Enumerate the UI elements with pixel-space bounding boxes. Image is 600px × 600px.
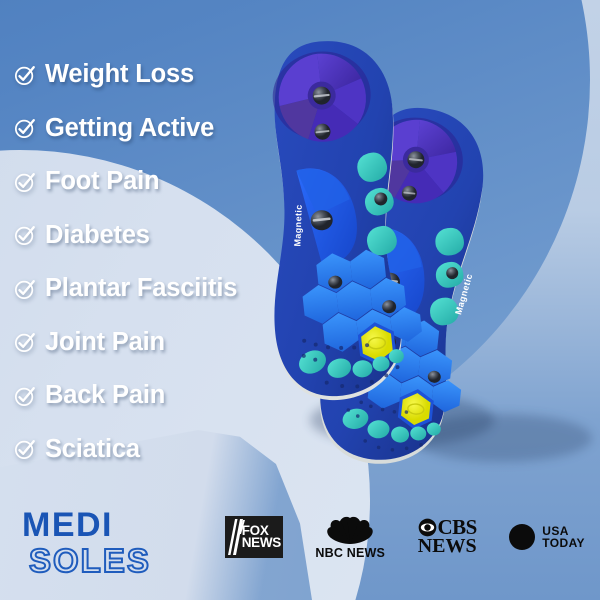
check-circle-icon [14, 385, 36, 407]
benefit-label: Diabetes [45, 221, 150, 250]
product-image: Magnetic [252, 40, 600, 460]
press-logo-nbc-news: NBC NEWS [315, 515, 385, 560]
check-circle-icon [14, 117, 36, 139]
benefit-item-joint-pain: Joint Pain [14, 316, 304, 370]
usa-today-word-2: TODAY [542, 537, 585, 549]
benefit-label: Foot Pain [45, 167, 159, 196]
usa-today-dot-icon [509, 524, 535, 550]
nbc-peacock-icon [324, 515, 376, 545]
fox-word-2: NEWS [242, 537, 281, 549]
benefit-item-diabetes: Diabetes [14, 209, 304, 263]
benefit-label: Joint Pain [45, 328, 165, 357]
benefits-list: Weight Loss Getting Active Foot Pain Dia… [14, 48, 304, 476]
brand-logo: MEDI SOLES [22, 508, 182, 577]
benefit-label: Sciatica [45, 435, 140, 464]
check-circle-icon [14, 64, 36, 86]
benefit-item-foot-pain: Foot Pain [14, 155, 304, 209]
check-circle-icon [14, 278, 36, 300]
benefit-item-back-pain: Back Pain [14, 369, 304, 423]
check-circle-icon [14, 331, 36, 353]
nbc-label: NBC NEWS [315, 546, 385, 560]
check-circle-icon [14, 438, 36, 460]
benefit-label: Weight Loss [45, 60, 194, 89]
press-logo-usa-today: USA TODAY [509, 524, 585, 550]
advertisement-canvas: Magnetic [0, 0, 600, 600]
press-logo-fox-news: FOX NEWS [225, 516, 283, 558]
benefit-item-getting-active: Getting Active [14, 102, 304, 156]
check-circle-icon [14, 171, 36, 193]
benefit-item-plantar-fasciitis: Plantar Fasciitis [14, 262, 304, 316]
benefit-label: Getting Active [45, 114, 214, 143]
benefit-label: Back Pain [45, 381, 165, 410]
cbs-eye-icon [418, 518, 437, 537]
brand-name-soles: SOLES [29, 544, 182, 577]
brand-name-medi: MEDI [22, 508, 182, 542]
press-logos: FOX NEWS NBC NEWS [225, 506, 585, 568]
cbs-word-2: NEWS [418, 537, 477, 555]
press-logo-cbs-news: CBS NEWS [418, 518, 477, 556]
check-circle-icon [14, 224, 36, 246]
benefit-label: Plantar Fasciitis [45, 274, 237, 303]
benefit-item-sciatica: Sciatica [14, 423, 304, 477]
benefit-item-weight-loss: Weight Loss [14, 48, 304, 102]
